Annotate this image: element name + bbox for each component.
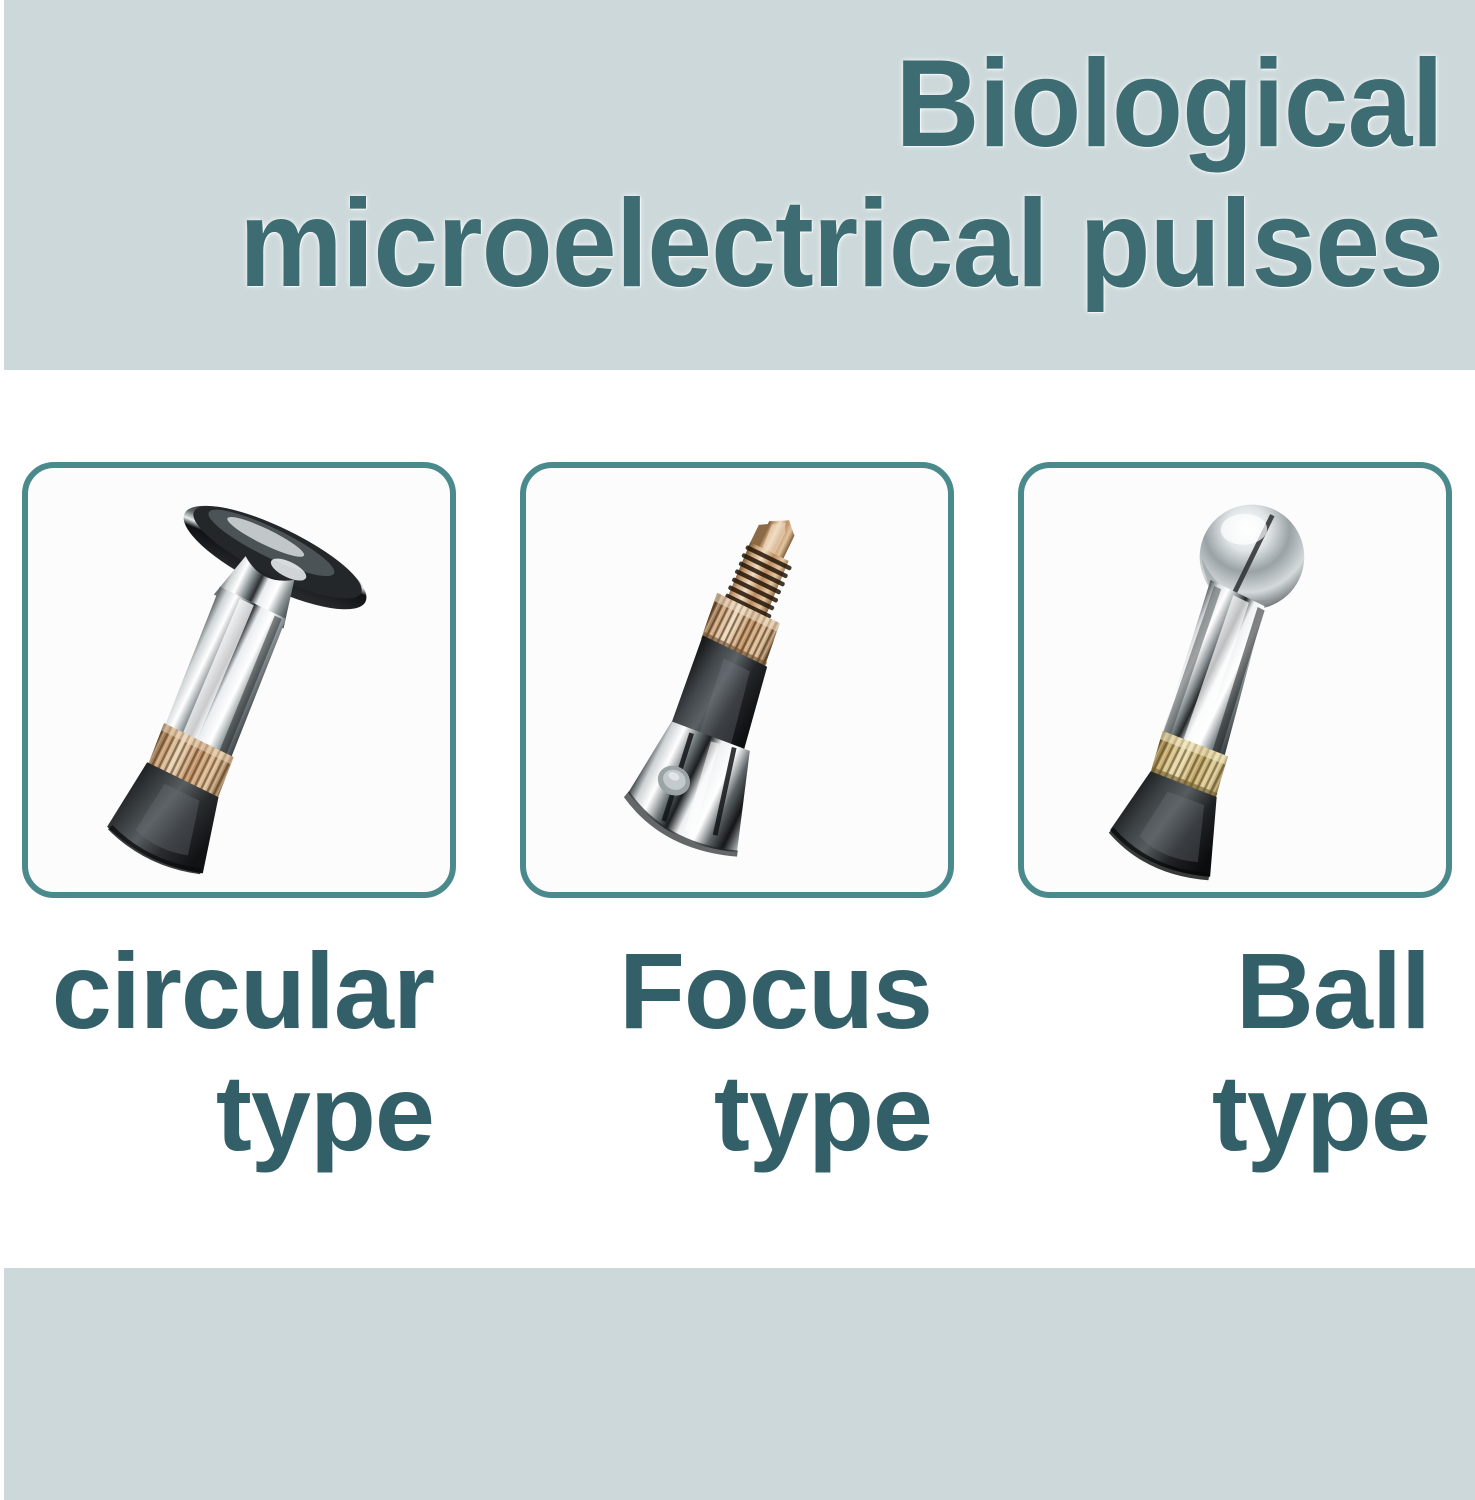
product-card-circular-type[interactable]: [22, 462, 456, 898]
product-label-focus-type: Focus type: [520, 930, 954, 1174]
product-card-ball-type[interactable]: [1018, 462, 1452, 898]
footer-band: [4, 1268, 1475, 1500]
page-title: Biological microelectrical pulses: [119, 34, 1443, 314]
product-label-circular-type: circular type: [22, 930, 456, 1174]
product-card-focus-type[interactable]: [520, 462, 954, 898]
header-band: Biological microelectrical pulses: [4, 0, 1475, 370]
ball-attachment-head-icon: [1024, 468, 1446, 892]
product-label-row: circular type Focus type Ball type: [22, 930, 1452, 1174]
circular-attachment-head-icon: [28, 468, 450, 892]
product-card-row: [22, 462, 1452, 898]
main-content: circular type Focus type Ball type: [0, 370, 1475, 1268]
focus-attachment-head-icon: [526, 468, 948, 892]
product-label-ball-type: Ball type: [1018, 930, 1452, 1174]
